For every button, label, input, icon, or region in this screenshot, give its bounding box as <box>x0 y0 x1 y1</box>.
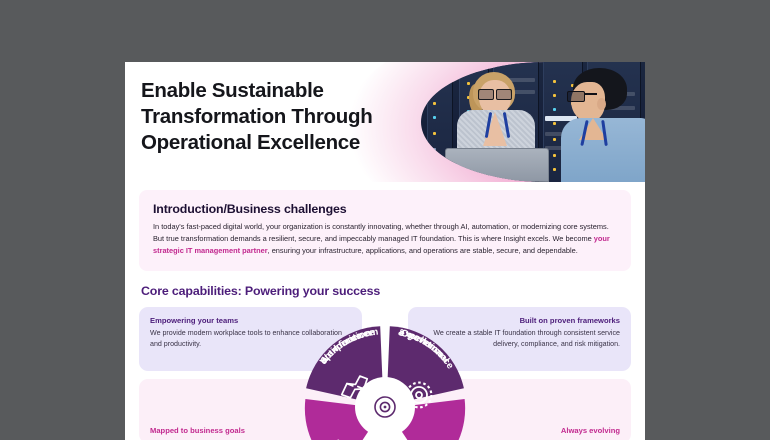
hero-photo <box>421 62 645 182</box>
capability-wheel: Workforce empowerment & experience optim… <box>287 309 483 440</box>
laptop <box>445 148 549 182</box>
hero-banner: Enable Sustainable Transformation Throug… <box>125 62 645 182</box>
intro-text-part1: In today's fast-paced digital world, you… <box>153 222 609 243</box>
hero-title: Enable Sustainable Transformation Throug… <box>141 78 431 157</box>
introduction-card: Introduction/Business challenges In toda… <box>139 190 631 271</box>
wheel-hub <box>355 377 415 437</box>
screenshot-canvas: Enable Sustainable Transformation Throug… <box>0 0 770 440</box>
core-capabilities-diagram: Empowering your teams We provide modern … <box>139 307 631 440</box>
intro-text-part2: , ensuring your infrastructure, applicat… <box>268 246 578 255</box>
glasses-icon <box>567 91 599 100</box>
introduction-paragraph: In today's fast-paced digital world, you… <box>153 221 617 257</box>
introduction-heading: Introduction/Business challenges <box>153 202 617 216</box>
document-page: Enable Sustainable Transformation Throug… <box>125 62 645 440</box>
core-capabilities-heading: Core capabilities: Powering your success <box>141 284 631 298</box>
glasses-icon <box>478 89 512 98</box>
target-icon <box>372 394 398 420</box>
